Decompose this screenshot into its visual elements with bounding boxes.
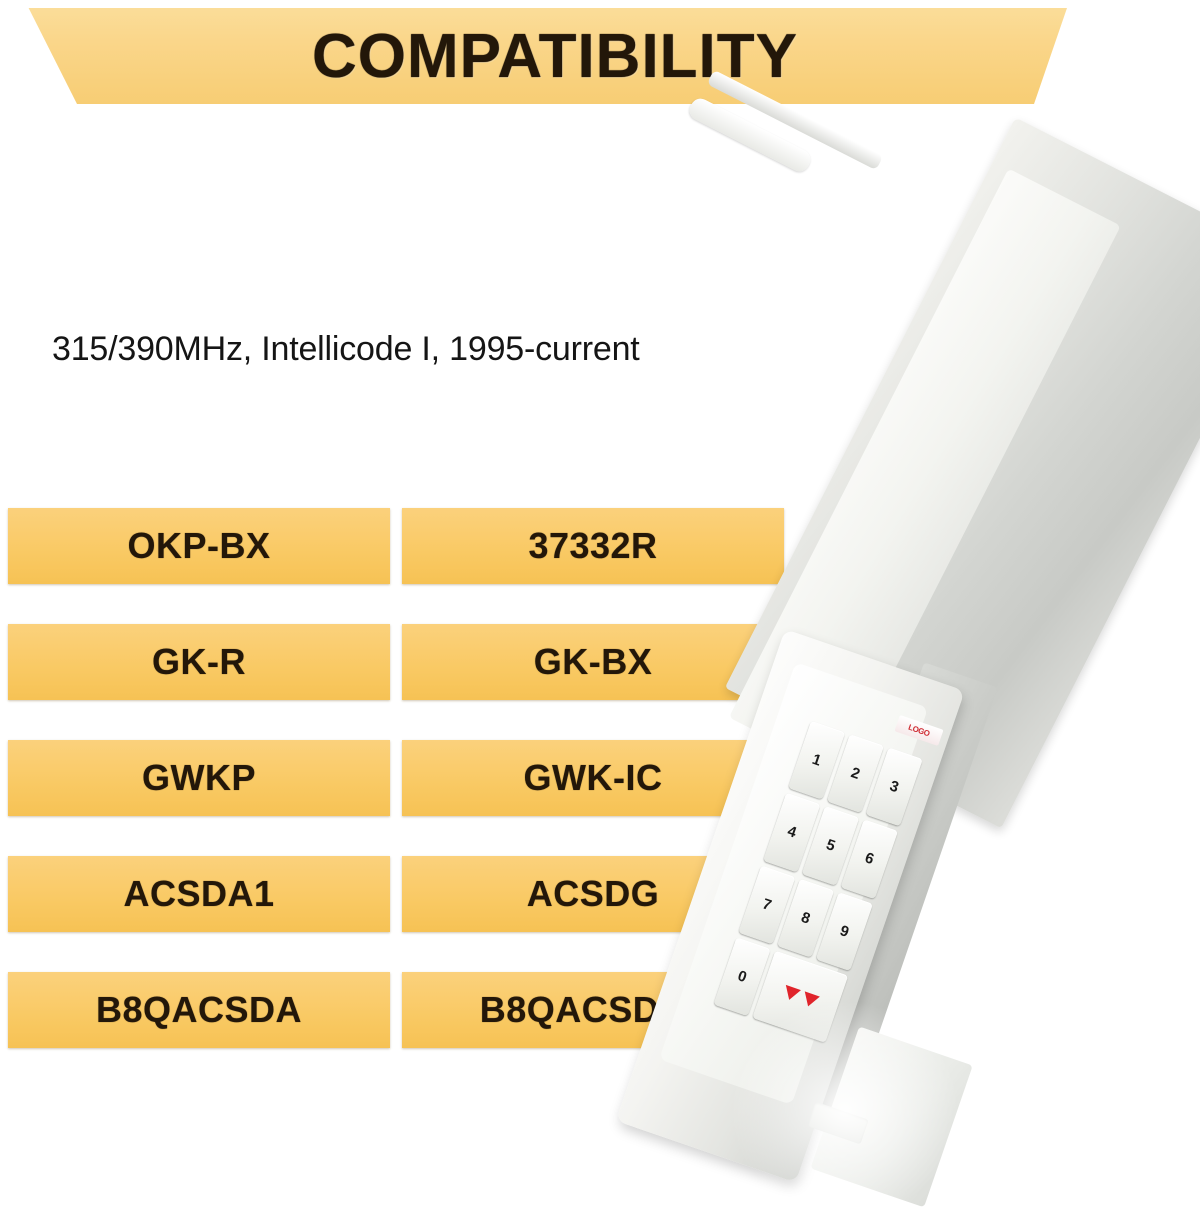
model-cell: OKP-BX [8, 508, 390, 584]
compatibility-banner: COMPATIBILITY [0, 8, 1100, 104]
page-title: COMPATIBILITY [0, 8, 1100, 104]
keypad-cover-lip [686, 95, 814, 175]
model-cell: B8QACSDA [8, 972, 390, 1048]
compatibility-subtitle: 315/390MHz, Intellicode I, 1995-current [52, 330, 640, 369]
model-cell: GK-R [8, 624, 390, 700]
wireless-keypad-photo: LOGO 1 2 3 4 5 6 7 8 9 0 [660, 100, 1200, 1200]
arrow-up-icon [781, 985, 800, 1003]
model-cell: GWKP [8, 740, 390, 816]
arrow-down-icon [800, 991, 819, 1009]
model-cell: ACSDA1 [8, 856, 390, 932]
